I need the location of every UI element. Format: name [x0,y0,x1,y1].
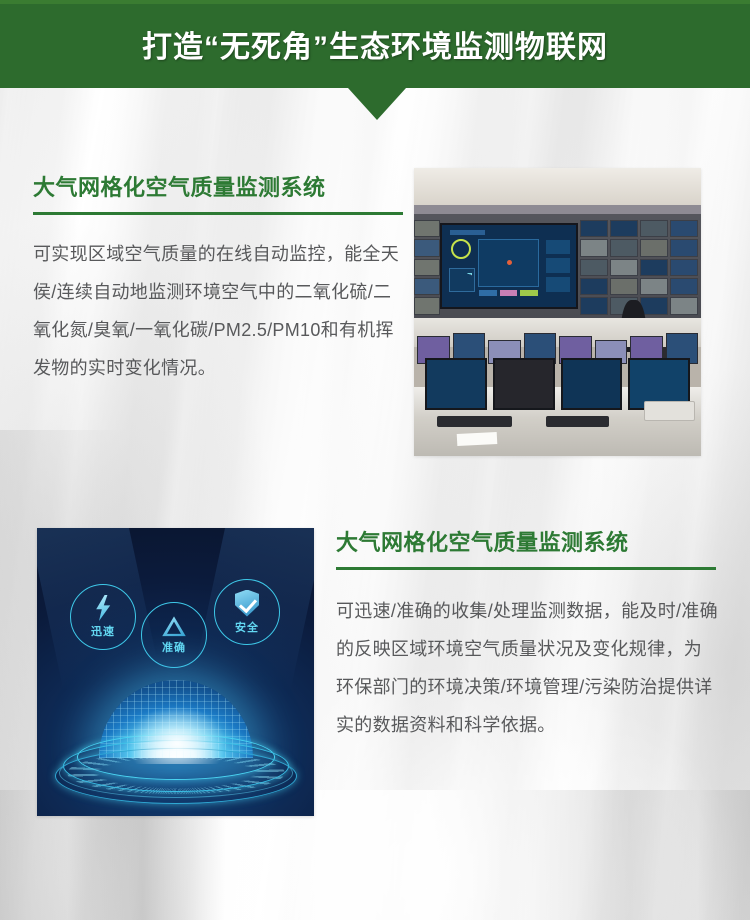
section-1-title: 大气网格化空气质量监测系统 [33,170,403,202]
photo-desk-phone [644,401,696,421]
page-title: 打造“无死角”生态环境监测物联网 [0,0,750,88]
triangle-icon [162,615,187,637]
photo-videowall-titlebar [450,230,485,235]
header-banner: 打造“无死角”生态环境监测物联网 [0,0,750,88]
photo-videowall-gauge [451,239,471,259]
section-2-title: 大气网格化空气质量监测系统 [336,525,716,557]
section-2-text-block: 大气网格化空气质量监测系统 可迅速/准确的收集/处理监测数据，能及时/准确的反映… [336,525,716,744]
badge-safe: 安全 [214,579,280,645]
tech-dome-illustration: 迅速 准确 安全 [37,528,314,816]
photo-videowall-button-row [479,289,538,297]
photo-desk-paper [457,432,498,446]
photo-videowall-map-marker [507,260,512,265]
section-1-body: 可实现区域空气质量的在线自动监控，能全天侯/连续自动地监测环境空气中的二氧化硫/… [33,235,405,387]
header-arrow-notch [348,88,406,120]
photo-keyboard-right [546,416,609,428]
section-2-title-rule [336,567,716,570]
badge-fast: 迅速 [70,584,136,650]
photo-videowall-chart [449,268,476,293]
badge-accurate: 准确 [141,602,207,668]
photo-wall-beam [414,205,701,214]
photo-videowall-side-panels [546,240,570,293]
control-room-photo [414,168,701,456]
section-1-text-block: 大气网格化空气质量监测系统 可实现区域空气质量的在线自动监控，能全天侯/连续自动… [33,170,403,387]
photo-ceiling [414,168,701,205]
poster-page: 打造“无死角”生态环境监测物联网 大气网格化空气质量监测系统 可实现区域空气质量… [0,0,750,920]
badge-safe-label: 安全 [235,619,259,635]
shield-check-icon [235,590,259,617]
lightning-bolt-icon [93,595,113,621]
photo-left-monitor-column [414,220,440,315]
photo-cctv-monitor-grid [580,220,698,315]
badge-fast-label: 迅速 [91,623,115,639]
section-1-title-rule [33,212,403,215]
photo-main-video-wall [440,223,578,309]
badge-accurate-label: 准确 [162,639,186,655]
illustration-orbit-ring-3 [55,748,297,804]
section-2-body: 可迅速/准确的收集/处理监测数据，能及时/准确的反映区域环境空气质量状况及变化规… [336,592,718,744]
photo-keyboard-left [437,416,512,428]
photo-videowall-map [478,239,540,287]
